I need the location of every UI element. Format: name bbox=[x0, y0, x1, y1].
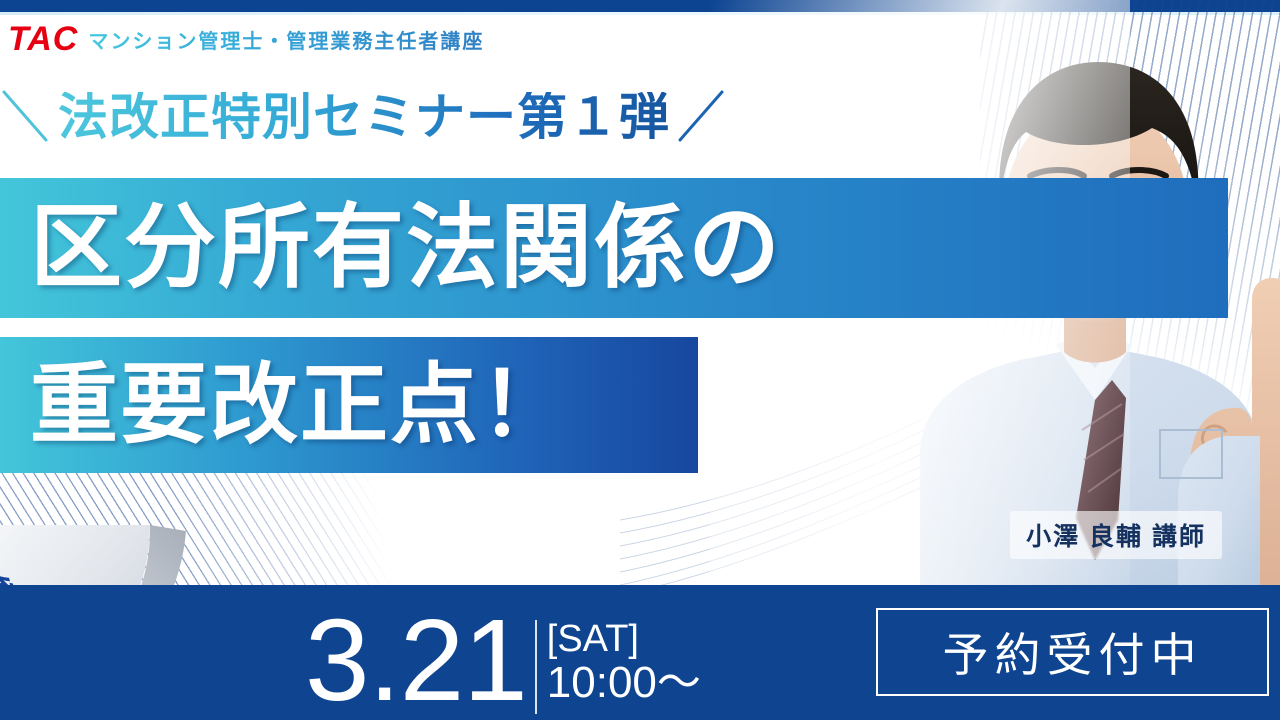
seminar-time: 10:00〜 bbox=[547, 660, 701, 706]
header: TAC マンション管理士・管理業務主任者講座 bbox=[8, 22, 484, 56]
title-line1: 区分所有法関係の bbox=[0, 202, 782, 294]
slash-left-icon bbox=[0, 86, 52, 148]
reservation-button[interactable]: 予約受付中 bbox=[876, 608, 1269, 696]
headline-row: 法改正特別セミナー第１弾 bbox=[0, 82, 900, 152]
seminar-day-of-week: [SAT] bbox=[547, 620, 701, 660]
reservation-button-label: 予約受付中 bbox=[943, 619, 1203, 685]
title-band-line1: 区分所有法関係の bbox=[0, 178, 1228, 318]
slash-right-icon bbox=[676, 86, 728, 148]
title-line2: 重要改正点！ bbox=[0, 361, 570, 449]
instructor-name-tag: 小澤 良輔 講師 bbox=[1010, 511, 1222, 559]
seminar-date: 3.21 bbox=[305, 607, 527, 714]
schedule-side: [SAT] 10:00〜 bbox=[535, 620, 701, 714]
course-name: マンション管理士・管理業務主任者講座 bbox=[88, 25, 484, 54]
title-band-line2: 重要改正点！ bbox=[0, 337, 698, 473]
tac-logo: TAC bbox=[8, 22, 78, 56]
schedule-block: 3.21 [SAT] 10:00〜 bbox=[305, 586, 701, 714]
headline-text: 法改正特別セミナー第１弾 bbox=[52, 92, 676, 142]
seminar-banner: TAC マンション管理士・管理業務主任者講座 法改正特別セミナー第１弾 区分所有… bbox=[0, 0, 1280, 720]
